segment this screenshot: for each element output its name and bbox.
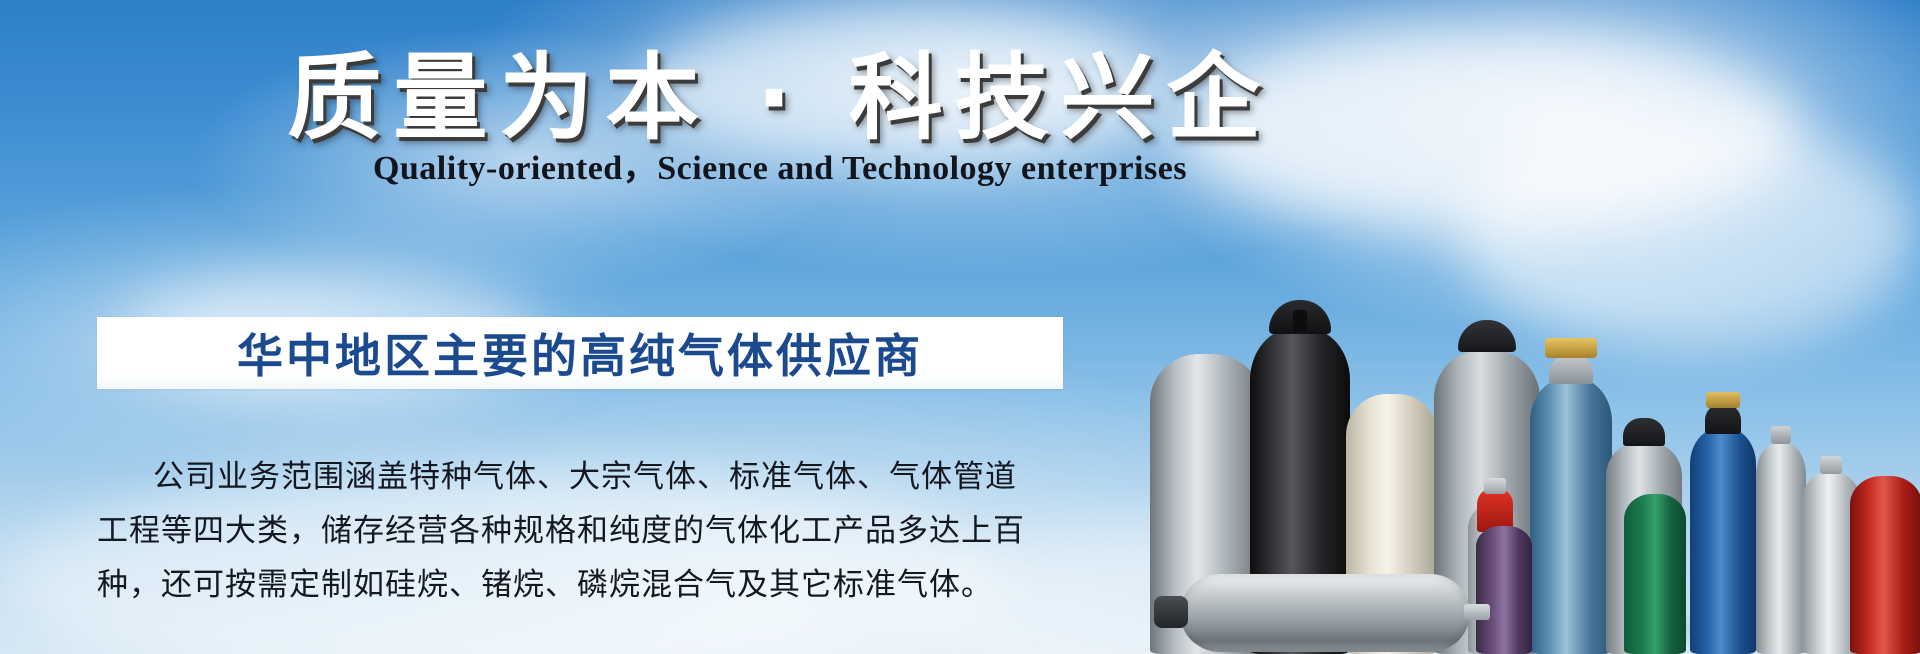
body-line: 工程等四大类，储存经营各种规格和纯度的气体化工产品多达上百 — [97, 504, 1057, 558]
purple-base-cylinder — [1476, 526, 1532, 654]
lying-gas-tank — [1180, 574, 1470, 652]
blue-cylinder — [1690, 404, 1756, 654]
cylinder-valve — [1293, 310, 1307, 332]
promo-banner: 质量为本 · 科技兴企 Quality-oriented，Science and… — [0, 0, 1920, 654]
cylinder-valve — [1771, 426, 1791, 444]
cylinder-cap — [1705, 404, 1741, 434]
cylinder-valve — [1484, 478, 1506, 494]
silver-cylinder-tall — [1756, 426, 1806, 654]
body-line: 公司业务范围涵盖特种气体、大宗气体、标准气体、气体管道 — [97, 450, 1057, 504]
brass-valve — [1706, 392, 1740, 408]
body-line: 种，还可按需定制如硅烷、锗烷、磷烷混合气及其它标准气体。 — [97, 558, 1057, 612]
red-cylinder — [1850, 476, 1920, 654]
tank-spout — [1464, 604, 1490, 620]
page-subtitle: Quality-oriented，Science and Technology … — [0, 140, 1560, 189]
cylinder-cap — [1458, 320, 1516, 352]
headline-box: 华中地区主要的高纯气体供应商 — [97, 317, 1063, 389]
teal-blue-cylinder — [1530, 354, 1612, 654]
page-title: 质量为本 · 科技兴企 — [0, 22, 1560, 158]
brass-valve — [1545, 338, 1597, 358]
tank-knob — [1154, 596, 1188, 628]
cylinder-cap — [1623, 418, 1665, 446]
headline-text: 华中地区主要的高纯气体供应商 — [237, 320, 923, 386]
body-paragraph: 公司业务范围涵盖特种气体、大宗气体、标准气体、气体管道 工程等四大类，储存经营各… — [97, 450, 1057, 612]
gas-cylinder-group — [1150, 150, 1920, 654]
green-base-cylinder — [1624, 494, 1686, 654]
cylinder-valve — [1820, 456, 1842, 474]
cylinder-cap — [1549, 354, 1593, 384]
